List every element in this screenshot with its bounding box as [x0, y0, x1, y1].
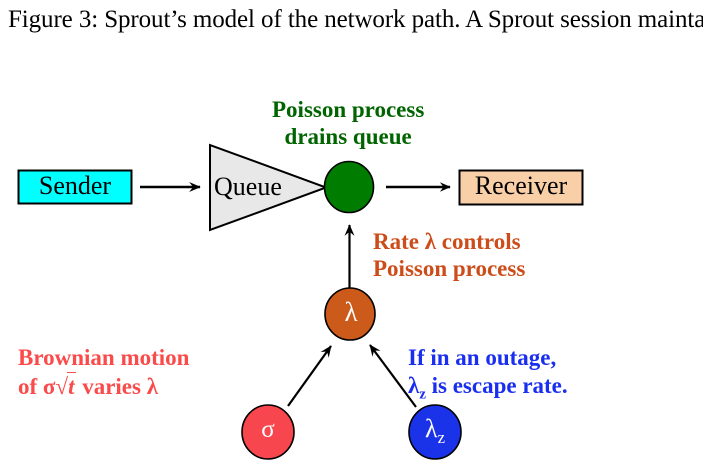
poisson-process-annotation: Poisson process drains queue — [272, 96, 424, 150]
outage-line2-rest: is escape rate. — [426, 373, 568, 398]
sqrt-t-expression: √t — [55, 372, 76, 401]
poisson-annotation-line2: drains queue — [272, 123, 424, 150]
poisson-server-circle — [325, 162, 374, 213]
brownian-line2-prefix: of — [18, 374, 43, 399]
lambda-z-subscript: z — [438, 428, 445, 447]
brownian-sigma-symbol: σ — [43, 374, 56, 399]
brownian-annotation-line1: Brownian motion — [18, 344, 189, 372]
rate-annotation-line2: Poisson process — [373, 255, 525, 282]
brownian-annotation-line2: of σ√t varies λ — [18, 372, 189, 401]
sqrt-radicand: t — [67, 372, 76, 401]
lambda-z-node-label: λz — [412, 414, 458, 444]
rate-annotation-line1: Rate λ controls — [373, 228, 525, 255]
edge-sigma-to-lambda — [288, 346, 331, 406]
brownian-line2-suffix: varies λ — [76, 374, 158, 399]
receiver-label: Receiver — [464, 172, 578, 199]
rate-lambda-annotation: Rate λ controls Poisson process — [373, 228, 525, 282]
outage-annotation-line2: λz is escape rate. — [408, 372, 568, 400]
outage-lambda-symbol: λ — [408, 373, 419, 398]
sender-label: Sender — [24, 172, 126, 199]
poisson-annotation-line1: Poisson process — [272, 96, 424, 123]
outage-annotation: If in an outage, λz is escape rate. — [408, 344, 568, 400]
lambda-z-base: λ — [425, 414, 438, 443]
brownian-motion-annotation: Brownian motion of σ√t varies λ — [18, 344, 189, 401]
sigma-node-label: σ — [247, 416, 289, 444]
queue-label: Queue — [214, 173, 282, 200]
figure-page: Figure 3: Sprout’s model of the network … — [0, 0, 703, 463]
outage-annotation-line1: If in an outage, — [408, 344, 568, 372]
lambda-node-label: λ — [330, 297, 372, 328]
